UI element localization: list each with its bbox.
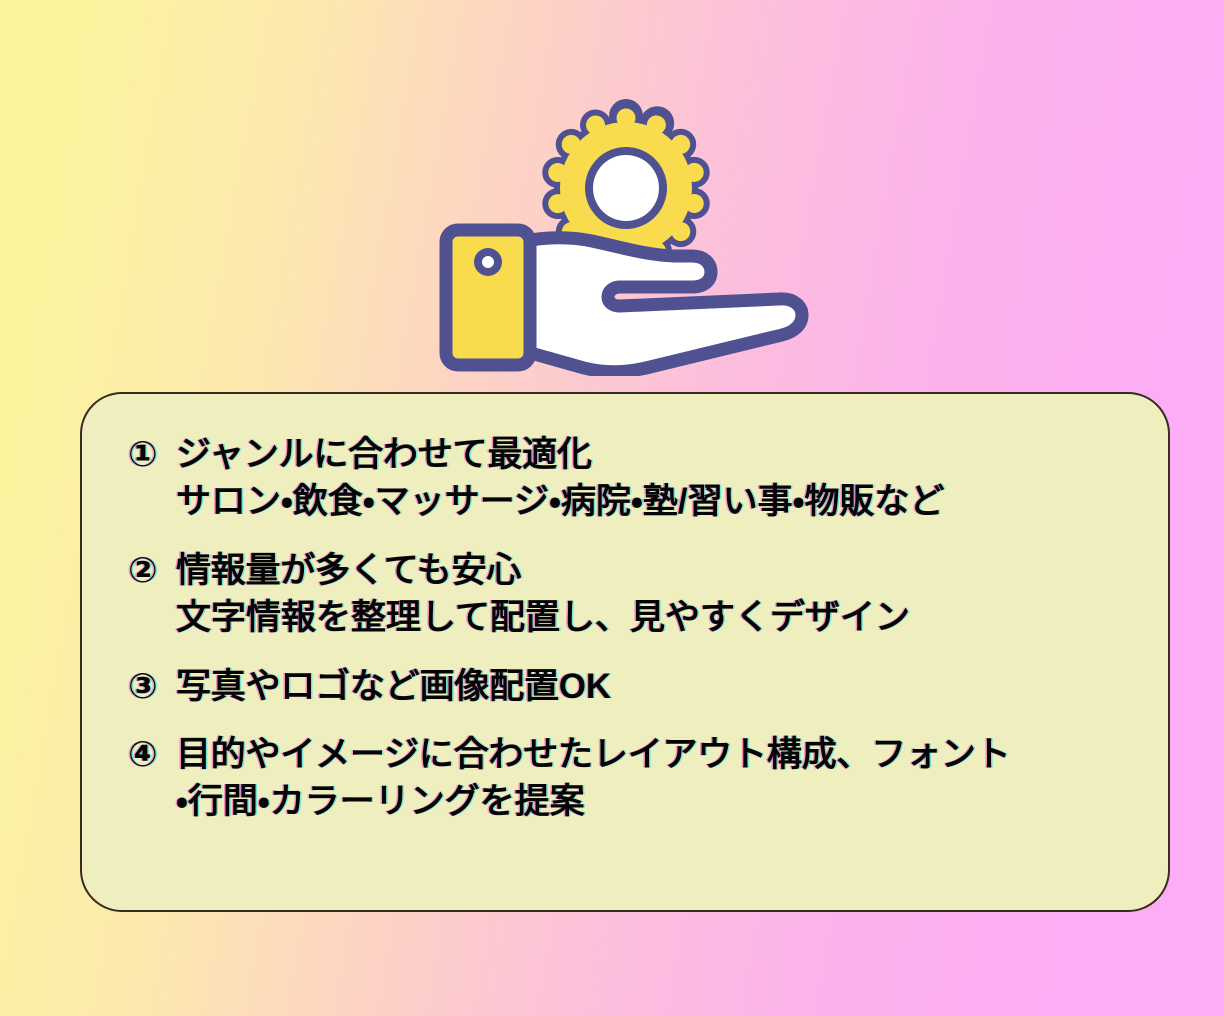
feature-item: ③ 写真やロゴなど画像配置OK xyxy=(128,664,1122,711)
feature-item: ② 情報量が多くても安心 文字情報を整理して配置し、見やすくデザイン xyxy=(128,548,1122,642)
feature-line-primary: 情報量が多くても安心 xyxy=(176,548,1122,595)
feature-line-secondary: 文字情報を整理して配置し、見やすくデザイン xyxy=(176,595,1122,642)
feature-text: ジャンルに合わせて最適化 サロン・飲食・マッサージ・病院・塾/習い事・物販など xyxy=(176,432,1122,526)
feature-card: ① ジャンルに合わせて最適化 サロン・飲食・マッサージ・病院・塾/習い事・物販な… xyxy=(80,392,1170,912)
feature-marker: ① xyxy=(128,432,176,479)
hand-holding-gear-icon xyxy=(424,92,816,376)
feature-marker: ④ xyxy=(128,732,176,779)
feature-text: 写真やロゴなど画像配置OK xyxy=(176,664,1122,711)
slide-canvas: ① ジャンルに合わせて最適化 サロン・飲食・マッサージ・病院・塾/習い事・物販な… xyxy=(0,0,1224,1016)
sleeve-cuff-icon xyxy=(446,230,530,365)
feature-line-secondary: ・行間・カラーリングを提案 xyxy=(176,779,1122,826)
feature-text: 情報量が多くても安心 文字情報を整理して配置し、見やすくデザイン xyxy=(176,548,1122,642)
feature-list: ① ジャンルに合わせて最適化 サロン・飲食・マッサージ・病院・塾/習い事・物販な… xyxy=(128,432,1122,826)
open-hand-icon xyxy=(512,238,802,372)
feature-marker: ② xyxy=(128,548,176,595)
feature-item: ① ジャンルに合わせて最適化 サロン・飲食・マッサージ・病院・塾/習い事・物販な… xyxy=(128,432,1122,526)
hand-holding-gear-illustration xyxy=(424,92,816,376)
feature-item: ④ 目的やイメージに合わせたレイアウト構成、フォント ・行間・カラーリングを提案 xyxy=(128,732,1122,826)
feature-line-primary: ジャンルに合わせて最適化 xyxy=(176,432,1122,479)
feature-line-primary: 写真やロゴなど画像配置OK xyxy=(176,664,1122,711)
feature-line-primary: 目的やイメージに合わせたレイアウト構成、フォント xyxy=(176,732,1122,779)
feature-marker: ③ xyxy=(128,664,176,711)
feature-text: 目的やイメージに合わせたレイアウト構成、フォント ・行間・カラーリングを提案 xyxy=(176,732,1122,826)
feature-line-secondary: サロン・飲食・マッサージ・病院・塾/習い事・物販など xyxy=(176,479,1122,526)
